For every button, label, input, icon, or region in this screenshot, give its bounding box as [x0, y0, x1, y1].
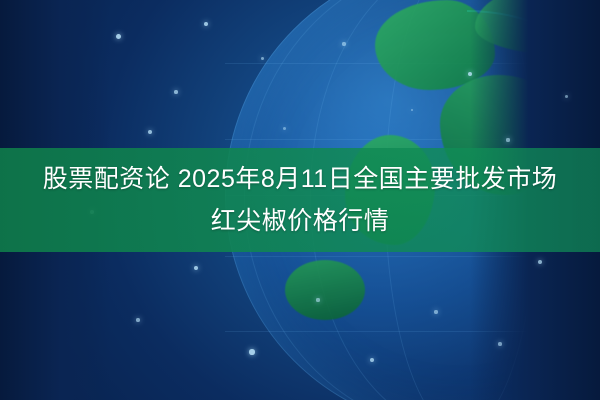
sparkle-dot	[498, 342, 502, 346]
sparkle-dot	[261, 57, 264, 60]
sparkle-dot	[342, 42, 345, 45]
sparkle-dot	[204, 22, 208, 26]
news-banner-image: 股票配资论 2025年8月11日全国主要批发市场 红尖椒价格行情	[0, 0, 600, 400]
headline-line-1: 股票配资论 2025年8月11日全国主要批发市场	[43, 158, 557, 200]
sparkle-dot	[506, 138, 509, 141]
sparkle-dot	[283, 127, 286, 130]
sparkle-dot	[116, 34, 121, 39]
sparkle-dot	[565, 95, 568, 98]
sparkle-dot	[249, 349, 254, 354]
sparkle-dot	[174, 90, 178, 94]
sparkle-dot	[136, 318, 140, 322]
sparkle-dot	[316, 298, 319, 301]
page-title: 股票配资论 2025年8月11日全国主要批发市场 红尖椒价格行情	[0, 148, 600, 252]
headline-line-2: 红尖椒价格行情	[211, 200, 390, 242]
sparkle-dot	[434, 310, 437, 313]
landmass-shape	[285, 260, 365, 320]
